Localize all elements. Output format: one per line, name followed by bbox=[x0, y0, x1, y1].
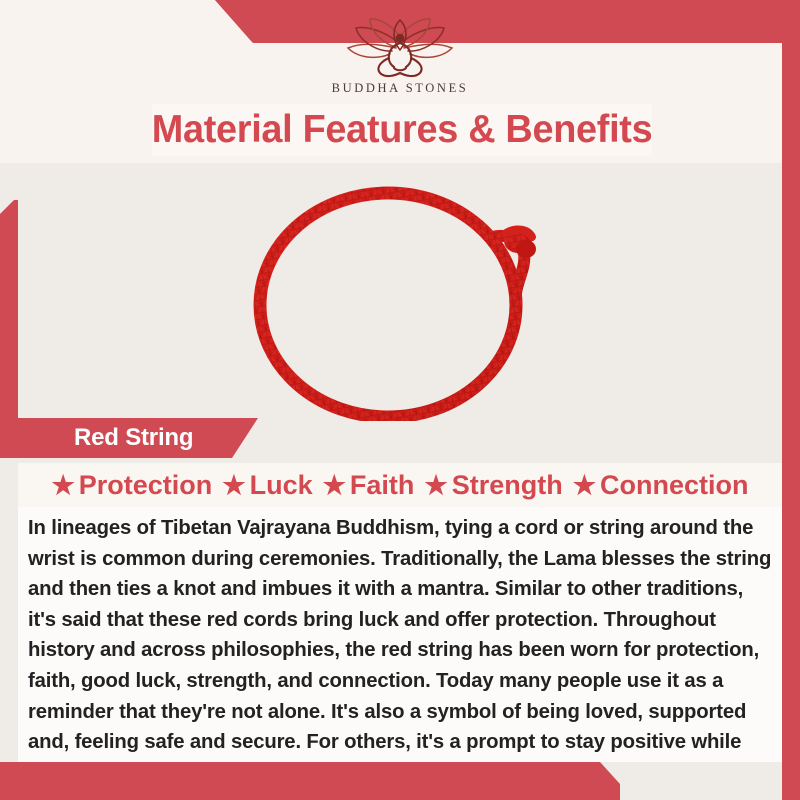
star-icon: ★ bbox=[424, 472, 447, 498]
star-icon: ★ bbox=[573, 472, 596, 498]
star-icon: ★ bbox=[222, 472, 245, 498]
feature-item-connection: ★ Connection bbox=[568, 470, 754, 501]
page-title-banner: Material Features & Benefits bbox=[152, 104, 652, 156]
feature-item-luck: ★ Luck bbox=[217, 470, 317, 501]
star-icon: ★ bbox=[51, 472, 74, 498]
brand-logo: BUDDHA STONES bbox=[0, 18, 800, 100]
description-block: In lineages of Tibetan Vajrayana Buddhis… bbox=[18, 507, 782, 762]
feature-item-protection: ★ Protection bbox=[46, 470, 217, 501]
infographic-page: BUDDHA STONES Material Features & Benefi… bbox=[0, 0, 800, 800]
feature-label: Faith bbox=[350, 470, 415, 501]
feature-label: Luck bbox=[250, 470, 313, 501]
product-label-text: Red String bbox=[74, 424, 193, 452]
feature-item-strength: ★ Strength bbox=[419, 470, 567, 501]
page-title: Material Features & Benefits bbox=[152, 108, 653, 152]
product-image bbox=[18, 163, 782, 421]
feature-label: Connection bbox=[600, 470, 749, 501]
lotus-meditation-figure-icon bbox=[334, 18, 466, 80]
feature-list: ★ Protection ★ Luck ★ Faith ★ Strength ★… bbox=[18, 463, 782, 507]
feature-label: Strength bbox=[452, 470, 563, 501]
description-text: In lineages of Tibetan Vajrayana Buddhis… bbox=[28, 513, 772, 788]
brand-wordmark: BUDDHA STONES bbox=[332, 81, 469, 96]
decorative-bar-left bbox=[0, 200, 18, 430]
red-string-bracelet-illustration bbox=[230, 163, 570, 421]
decorative-band-bottom-left bbox=[0, 762, 620, 800]
product-label-banner: Red String bbox=[0, 418, 258, 458]
star-icon: ★ bbox=[323, 472, 346, 498]
decorative-bar-right bbox=[782, 0, 800, 800]
feature-item-faith: ★ Faith bbox=[318, 470, 420, 501]
feature-label: Protection bbox=[79, 470, 213, 501]
